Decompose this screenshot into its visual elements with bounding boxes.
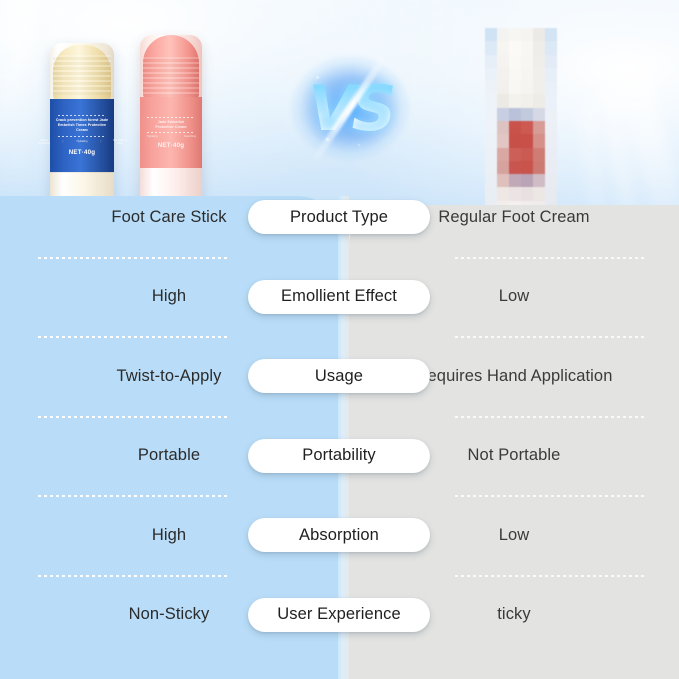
mosaic-tile: [521, 41, 533, 54]
mosaic-tile: [533, 121, 545, 134]
product-pink-stick: Jade Embelish Protective Cream Hydrating…: [140, 35, 202, 208]
mosaic-tile: [533, 41, 545, 54]
label-divider: [58, 136, 107, 137]
comparison-table: Foot Care StickRegular Foot CreamProduct…: [0, 196, 679, 679]
label-net-weight: NET·40g: [158, 142, 185, 149]
mosaic-tile: [533, 28, 545, 41]
mosaic-tile: [497, 134, 509, 147]
mosaic-tile: [509, 55, 521, 68]
row-attribute-pill[interactable]: Emollient Effect: [248, 280, 430, 314]
mosaic-tile: [485, 94, 497, 107]
mosaic-tile: [521, 94, 533, 107]
row-attribute-pill[interactable]: Absorption: [248, 518, 430, 552]
label-line-2: Protective Cream: [155, 125, 186, 130]
mosaic-tile: [533, 134, 545, 147]
mosaic-tile: [521, 28, 533, 41]
mosaic-tile: [485, 28, 497, 41]
mosaic-tile: [545, 161, 557, 174]
label-product-name: Crack prevention forest Jade Embelish Ti…: [53, 118, 111, 134]
mosaic-tile: [545, 81, 557, 94]
mosaic-tile: [509, 121, 521, 134]
label-feature-2: Hydrating: [74, 140, 90, 143]
mosaic-tile: [509, 161, 521, 174]
mosaic-tile: [509, 28, 521, 41]
mosaic-tile: [497, 94, 509, 107]
mosaic-tile: [509, 81, 521, 94]
mosaic-tile: [485, 81, 497, 94]
product-blue-stick: Crack prevention forest Jade Embelish Ti…: [50, 43, 114, 208]
mosaic-tile: [485, 68, 497, 81]
mosaic-tile: [521, 161, 533, 174]
mosaic-tile: [533, 174, 545, 187]
label-product-name: Jade Embelish Protective Cream: [155, 120, 186, 130]
mosaic-tile: [545, 55, 557, 68]
mosaic-tile: [485, 121, 497, 134]
light-ray-icon: [0, 0, 48, 182]
row-separator-left: [38, 257, 228, 259]
label-feature-sep: |: [93, 140, 109, 143]
mosaic-tile: [533, 55, 545, 68]
mosaic-tile: [485, 174, 497, 187]
mosaic-tile: [497, 121, 509, 134]
mosaic-tile: [509, 41, 521, 54]
mosaic-tile: [521, 108, 533, 121]
row-separator-right: [455, 495, 645, 497]
mosaic-tile: [509, 148, 521, 161]
mosaic-tile: [485, 148, 497, 161]
label-line-2: Embelish Times Protective Cream: [53, 123, 111, 133]
mosaic-tile: [497, 148, 509, 161]
mosaic-tile: [485, 134, 497, 147]
mosaic-tile: [509, 94, 521, 107]
light-ray-icon: [0, 0, 49, 201]
mosaic-tile: [485, 55, 497, 68]
label-divider: [58, 115, 107, 116]
stick-cap: [143, 35, 199, 99]
mosaic-tile: [545, 148, 557, 161]
mosaic-tile: [497, 81, 509, 94]
mosaic-tile: [521, 174, 533, 187]
mosaic-tile: [521, 81, 533, 94]
row-attribute-pill[interactable]: Usage: [248, 359, 430, 393]
product-censored-tube: [485, 28, 557, 214]
row-separator-left: [38, 495, 228, 497]
mosaic-tile: [521, 148, 533, 161]
label-feature-3: Not sticky to wear: [112, 139, 128, 146]
mosaic-tile: [485, 108, 497, 121]
row-attribute-pill[interactable]: Portability: [248, 439, 430, 473]
row-separator-right: [455, 336, 645, 338]
mosaic-tile: [521, 55, 533, 68]
label-feature-2: Nourishing: [182, 135, 198, 138]
mosaic-tile: [485, 41, 497, 54]
label-feature-sep: |: [163, 135, 179, 138]
row-attribute-pill[interactable]: Product Type: [248, 200, 430, 234]
mosaic-tile: [533, 81, 545, 94]
mosaic-tile: [545, 41, 557, 54]
row-separator-right: [455, 575, 645, 577]
mosaic-tile: [545, 108, 557, 121]
row-attribute-pill[interactable]: User Experience: [248, 598, 430, 632]
row-separator-right: [455, 257, 645, 259]
mosaic-tile: [485, 161, 497, 174]
label-feature-1: Caring nourishing: [36, 139, 52, 146]
mosaic-tile: [497, 161, 509, 174]
row-separator-right: [455, 416, 645, 418]
mosaic-tile: [545, 28, 557, 41]
infographic-canvas: Crack prevention forest Jade Embelish Ti…: [0, 0, 679, 679]
mosaic-tile: [509, 174, 521, 187]
mosaic-tile: [497, 55, 509, 68]
mosaic-tile: [521, 121, 533, 134]
mosaic-tile: [533, 94, 545, 107]
mosaic-tile: [497, 41, 509, 54]
row-separator-left: [38, 575, 228, 577]
versus-badge: VS: [296, 58, 404, 158]
stick-label: Jade Embelish Protective Cream Hydrating…: [140, 97, 202, 169]
mosaic-tile: [521, 134, 533, 147]
label-divider: [147, 132, 194, 133]
mosaic-tile: [509, 134, 521, 147]
mosaic-tile: [533, 161, 545, 174]
mosaic-tile: [533, 108, 545, 121]
mosaic-tile: [545, 68, 557, 81]
row-separator-left: [38, 416, 228, 418]
mosaic-tile: [545, 134, 557, 147]
mosaic-tile: [497, 28, 509, 41]
mosaic-tile: [497, 108, 509, 121]
mosaic-tile: [497, 68, 509, 81]
label-feature-sep: |: [55, 140, 71, 143]
row-separator-left: [38, 336, 228, 338]
label-feature-1: Hydrating: [144, 135, 160, 138]
label-net-weight: NET·40g: [69, 149, 96, 156]
mosaic-tile: [497, 174, 509, 187]
mosaic-tile: [545, 94, 557, 107]
stick-cap: [53, 45, 111, 101]
mosaic-tile: [545, 174, 557, 187]
label-divider: [147, 117, 194, 118]
mosaic-tile: [521, 68, 533, 81]
stick-label: Crack prevention forest Jade Embelish Ti…: [50, 99, 114, 172]
mosaic-tile: [509, 108, 521, 121]
mosaic-tile: [533, 68, 545, 81]
mosaic-tile: [509, 68, 521, 81]
mosaic-tile: [545, 121, 557, 134]
mosaic-tile: [533, 148, 545, 161]
label-features: Caring nourishing | Hydrating | Not stic…: [36, 139, 128, 146]
label-features: Hydrating | Nourishing: [144, 135, 198, 138]
